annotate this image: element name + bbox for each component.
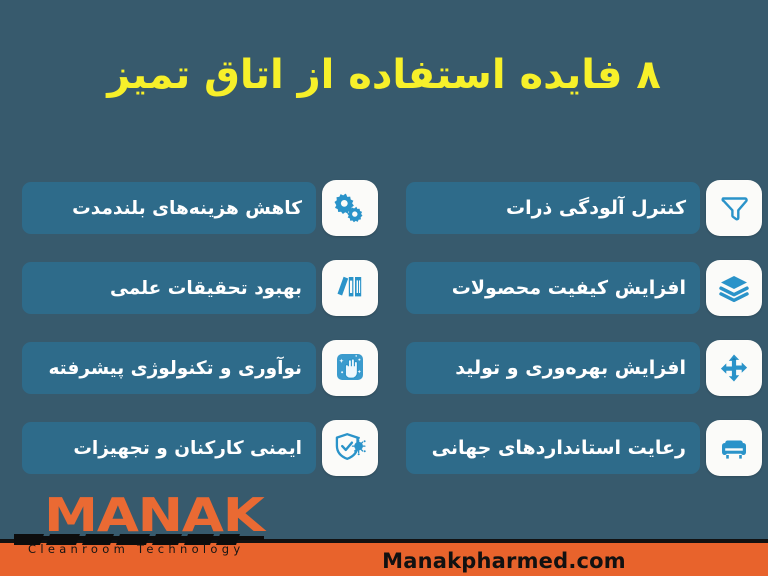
page-title: ۸ فایده استفاده از اتاق تمیز: [0, 52, 768, 98]
benefit-label: بهبود تحقیقات علمی: [22, 262, 316, 314]
benefit-item-product-quality[interactable]: افزایش کیفیت محصولات: [406, 255, 762, 321]
books-icon: [322, 260, 378, 316]
manak-logo: MANAK Cleanroom Technology: [14, 492, 249, 554]
logo-wordmark: MANAK: [44, 492, 264, 538]
gears-icon: [322, 180, 378, 236]
infographic-canvas: ۸ فایده استفاده از اتاق تمیز کنترل آلودگ…: [0, 0, 768, 576]
layers-icon: [706, 260, 762, 316]
logo-tagline: Cleanroom Technology: [28, 542, 244, 556]
benefit-label: رعایت استانداردهای جهانی: [406, 422, 700, 474]
benefit-label: ایمنی کارکنان و تجهیزات: [22, 422, 316, 474]
armchair-icon: [706, 420, 762, 476]
benefit-item-cost-reduction[interactable]: کاهش هزینه‌های بلندمدت: [22, 175, 378, 241]
funnel-icon: [706, 180, 762, 236]
four-way-arrows-icon: [706, 340, 762, 396]
website-url-text: Manakpharmed.com: [382, 549, 626, 573]
benefit-item-global-standards[interactable]: رعایت استانداردهای جهانی: [406, 415, 762, 481]
benefit-label: کنترل آلودگی ذرات: [406, 182, 700, 234]
benefits-grid: کنترل آلودگی ذرات افزایش کیفیت محصولات: [0, 175, 768, 460]
benefit-label: افزایش کیفیت محصولات: [406, 262, 700, 314]
benefit-label: کاهش هزینه‌های بلندمدت: [22, 182, 316, 234]
benefit-item-scientific-research[interactable]: بهبود تحقیقات علمی: [22, 255, 378, 321]
benefit-item-innovation-technology[interactable]: نوآوری و تکنولوژی پیشرفته: [22, 335, 378, 401]
cleaning-glove-icon: [322, 340, 378, 396]
benefit-item-particle-control[interactable]: کنترل آلودگی ذرات: [406, 175, 762, 241]
benefit-item-staff-safety[interactable]: ایمنی کارکنان و تجهیزات: [22, 415, 378, 481]
shield-check-virus-icon: [322, 420, 378, 476]
benefit-label: افزایش بهره‌وری و تولید: [406, 342, 700, 394]
benefit-item-productivity[interactable]: افزایش بهره‌وری و تولید: [406, 335, 762, 401]
benefit-label: نوآوری و تکنولوژی پیشرفته: [22, 342, 316, 394]
